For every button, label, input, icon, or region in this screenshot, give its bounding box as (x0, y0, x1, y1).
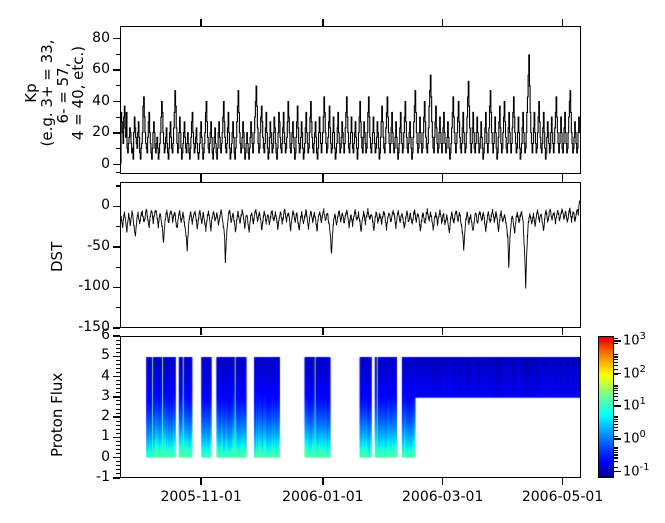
xtick-major-top (322, 19, 323, 26)
ytick-major (113, 101, 120, 102)
ytick-major (113, 38, 120, 39)
xtick-major-top (200, 19, 201, 26)
ytick-minor (116, 425, 120, 426)
ytick-minor (116, 54, 120, 55)
colorbar-tick-minor (614, 417, 618, 418)
colorbar-tick-mantissa: 10 (623, 366, 640, 381)
colorbar-tick-minor (614, 343, 618, 344)
ytick-label: 6 (68, 327, 110, 343)
ytick-label: 0 (68, 449, 110, 465)
xtick-major (442, 328, 443, 335)
ytick-label: 20 (58, 124, 110, 140)
colorbar-tick-minor (614, 396, 618, 397)
ytick-minor (116, 473, 120, 474)
ytick-label: 0 (58, 156, 110, 172)
colorbar-tick-minor (614, 447, 618, 448)
colorbar-tick-minor (614, 419, 618, 420)
colorbar-tick-exponent: -1 (640, 462, 650, 473)
ytick-label: 40 (58, 93, 110, 109)
ytick-minor (116, 376, 120, 377)
ytick-minor (116, 437, 120, 438)
xtick-label: 2005-11-01 (141, 489, 261, 505)
ytick-minor (116, 267, 120, 268)
figure-canvas: Kp (e.g. 3+ = 33, 6- = 57, 4 = 40, etc.)… (0, 0, 665, 523)
ytick-minor (116, 409, 120, 410)
colorbar-tick-label: 10-1 (623, 462, 650, 479)
kp-data-trace (121, 27, 580, 173)
colorbar-tick-mantissa: 10 (623, 464, 640, 479)
xtick-major-top (322, 175, 323, 182)
proton-flux-plot-panel (120, 336, 581, 478)
ytick-major (113, 132, 120, 133)
xtick-major (200, 478, 201, 485)
colorbar-tick-major (614, 471, 621, 473)
ytick-major (113, 164, 120, 165)
colorbar-tick-minor (614, 454, 618, 455)
xtick-major (442, 478, 443, 485)
ytick-label: 1 (68, 428, 110, 444)
colorbar-tick-minor (614, 400, 618, 401)
colorbar-gradient (598, 336, 614, 478)
colorbar-tick-label: 102 (623, 364, 646, 381)
ytick-minor (116, 368, 120, 369)
ytick-minor (116, 356, 120, 357)
colorbar-tick-exponent: 2 (640, 364, 646, 375)
colorbar-tick-label: 100 (623, 429, 646, 446)
ytick-minor (116, 429, 120, 430)
ytick-minor (116, 413, 120, 414)
ytick-minor (116, 185, 120, 186)
colorbar-tick-label: 101 (623, 396, 646, 413)
ytick-minor (116, 307, 120, 308)
ytick-minor (116, 457, 120, 458)
xtick-major-top (442, 19, 443, 26)
xtick-label: 2006-03-01 (383, 489, 503, 505)
ytick-label: 2 (68, 408, 110, 424)
ytick-minor (116, 364, 120, 365)
colorbar-tick-mantissa: 10 (623, 431, 640, 446)
colorbar-tick-minor (614, 452, 618, 453)
proton-flux-axis-label-text: Proton Flux (48, 373, 66, 457)
colorbar-tick-minor (614, 354, 618, 355)
xtick-major-top (442, 175, 443, 182)
ytick-label: 5 (68, 347, 110, 363)
colorbar-tick-minor (614, 405, 618, 406)
ytick-label: -50 (58, 238, 110, 254)
colorbar-tick-major (614, 340, 621, 342)
colorbar-tick-exponent: 0 (640, 429, 646, 440)
colorbar-tick-minor (614, 390, 618, 391)
colorbar-tick-minor (614, 374, 618, 375)
ytick-minor (116, 449, 120, 450)
colorbar-tick-mantissa: 10 (623, 333, 640, 348)
xtick-major (562, 478, 563, 485)
ytick-minor (116, 172, 120, 173)
colorbar-tick-minor (614, 448, 618, 449)
colorbar-tick-minor (614, 436, 618, 437)
ytick-major (113, 206, 120, 207)
colorbar-tick-minor (614, 356, 618, 357)
colorbar-tick-minor (614, 357, 618, 358)
ytick-minor (116, 433, 120, 434)
ytick-minor (116, 465, 120, 466)
ytick-minor (116, 469, 120, 470)
ytick-minor (116, 392, 120, 393)
colorbar-tick-minor (614, 457, 618, 458)
ytick-minor (116, 404, 120, 405)
kp-plot-panel (120, 26, 581, 174)
ytick-minor (116, 453, 120, 454)
ytick-minor (116, 352, 120, 353)
ytick-minor (116, 445, 120, 446)
ytick-minor (116, 348, 120, 349)
ytick-label: -100 (58, 278, 110, 294)
ytick-minor (116, 117, 120, 118)
ytick-minor (116, 388, 120, 389)
ytick-label: 4 (68, 368, 110, 384)
ytick-major (113, 69, 120, 70)
xtick-label: 2006-01-01 (263, 489, 383, 505)
ytick-minor (116, 441, 120, 442)
ytick-minor (116, 396, 120, 397)
xtick-label: 2006-05-01 (503, 489, 623, 505)
ytick-minor (116, 400, 120, 401)
colorbar-tick-exponent: 3 (640, 331, 646, 342)
ytick-minor (116, 360, 120, 361)
colorbar-tick-minor (614, 467, 618, 468)
colorbar-tick-minor (614, 461, 618, 462)
proton-flux-axis-label: Proton Flux (48, 373, 66, 457)
ytick-minor (116, 417, 120, 418)
colorbar-tick-minor (614, 385, 618, 386)
ytick-minor (116, 148, 120, 149)
ytick-minor (116, 226, 120, 227)
ytick-minor (116, 340, 120, 341)
ytick-minor (116, 461, 120, 462)
ytick-label: 60 (58, 61, 110, 77)
colorbar-tick-exponent: 1 (640, 396, 646, 407)
colorbar-tick-minor (614, 362, 618, 363)
xtick-major (200, 328, 201, 335)
dst-plot-panel (120, 182, 581, 328)
colorbar-tick-minor (614, 416, 618, 417)
colorbar-tick-minor (614, 388, 618, 389)
colorbar-tick-minor (614, 386, 618, 387)
ytick-label: 80 (58, 30, 110, 46)
ytick-major (113, 246, 120, 247)
xtick-major-top (562, 19, 563, 26)
ytick-label: -1 (68, 469, 110, 485)
ytick-major (113, 287, 120, 288)
proton-flux-heatmap (121, 337, 580, 477)
colorbar-tick-label: 103 (623, 331, 646, 348)
ytick-minor (116, 421, 120, 422)
colorbar-tick-minor (614, 365, 618, 366)
ytick-minor (116, 344, 120, 345)
ytick-minor (116, 380, 120, 381)
dst-data-trace (121, 183, 580, 327)
xtick-major (562, 328, 563, 335)
colorbar-tick-minor (614, 424, 618, 425)
colorbar-tick-minor (614, 393, 618, 394)
ytick-minor (116, 85, 120, 86)
xtick-major-top (200, 175, 201, 182)
ytick-minor (116, 478, 120, 479)
colorbar-tick-major (614, 438, 621, 440)
xtick-major (322, 478, 323, 485)
ytick-label: 0 (58, 197, 110, 213)
colorbar-tick-minor (614, 338, 618, 339)
xtick-major (322, 328, 323, 335)
xtick-major-top (562, 175, 563, 182)
ytick-major (113, 335, 120, 336)
colorbar-tick-minor (614, 369, 618, 370)
colorbar-tick-mantissa: 10 (623, 399, 640, 414)
colorbar-tick-minor (614, 359, 618, 360)
colorbar-tick-minor (614, 450, 618, 451)
colorbar-tick-minor (614, 421, 618, 422)
colorbar-tick-minor (614, 430, 618, 431)
ytick-minor (116, 372, 120, 373)
colorbar-tick-minor (614, 427, 618, 428)
ytick-minor (116, 384, 120, 385)
ytick-label: 3 (68, 388, 110, 404)
ytick-major (113, 327, 120, 328)
